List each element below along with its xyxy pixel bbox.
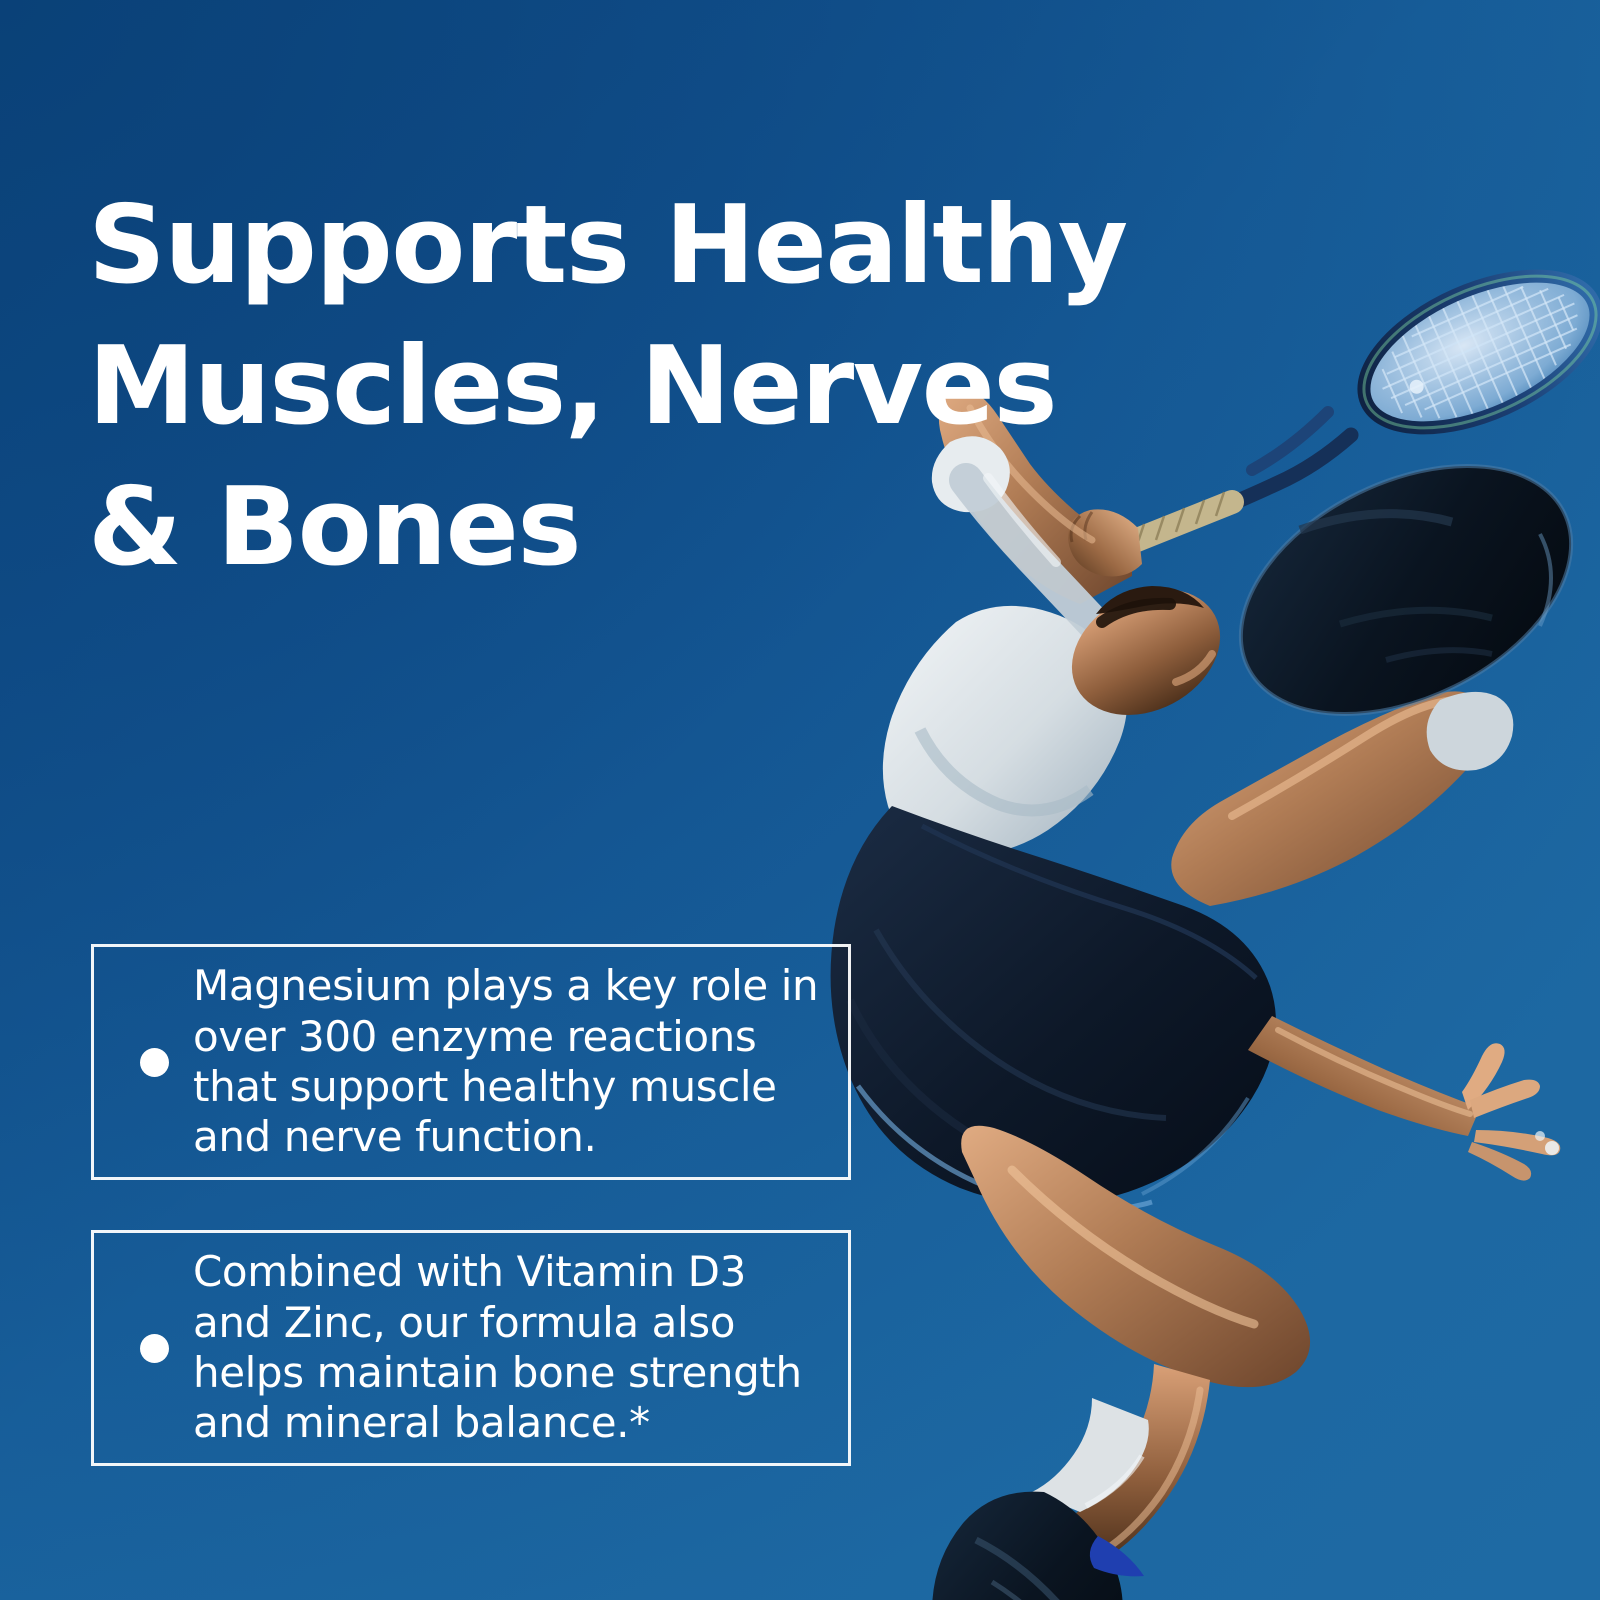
promo-banner: Supports Healthy Muscles, Nerves & Bones…	[0, 0, 1600, 1600]
player-arm-extended	[1248, 1016, 1560, 1181]
bullet-dot-icon	[140, 1334, 169, 1363]
bullet-dot-icon	[140, 1048, 169, 1077]
benefit-text: Combined with Vitamin D3 and Zinc, our f…	[193, 1247, 826, 1449]
benefit-callout-box: Combined with Vitamin D3 and Zinc, our f…	[91, 1230, 851, 1466]
player-knee-wrap	[1427, 692, 1514, 771]
benefit-text: Magnesium plays a key role in over 300 e…	[193, 961, 826, 1163]
player-leg-lower	[961, 1126, 1310, 1556]
player-hand-open	[1462, 1043, 1560, 1180]
benefit-callout-box: Magnesium plays a key role in over 300 e…	[91, 944, 851, 1180]
page-title: Supports Healthy Muscles, Nerves & Bones	[88, 176, 1208, 599]
